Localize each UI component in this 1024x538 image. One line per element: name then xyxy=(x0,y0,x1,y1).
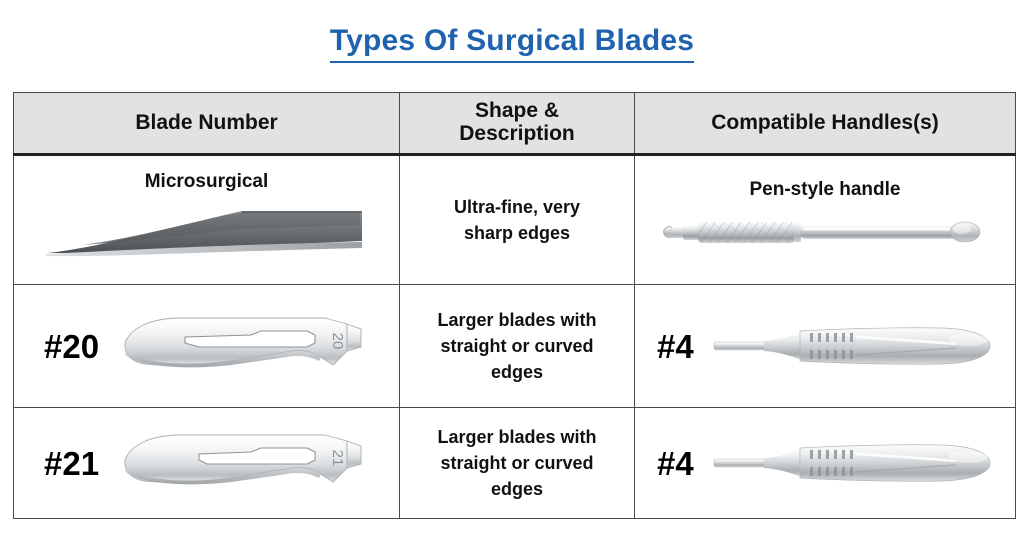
description-line: Larger blades with xyxy=(400,307,634,333)
blade-label-microsurgical: Microsurgical xyxy=(145,171,269,193)
description-line: edges xyxy=(400,476,634,502)
table-row: #20 xyxy=(14,285,1016,408)
column-header-compatible-handles-label: Compatible Handles(s) xyxy=(711,111,939,134)
table-header: Blade Number Shape & Description Compati… xyxy=(14,93,1016,155)
cell-description-microsurgical: Ultra-fine, very sharp edges xyxy=(400,155,635,285)
blade-engraving-20: 20 xyxy=(329,333,346,350)
cell-handle-21: #4 xyxy=(635,408,1016,519)
description-line: Ultra-fine, very xyxy=(400,194,634,220)
cell-blade-microsurgical: Microsurgical xyxy=(14,155,400,285)
page-title-text: Types Of Surgical Blades xyxy=(330,24,694,63)
scalpel-blade-21-icon: 21 xyxy=(99,424,399,502)
column-header-shape-description: Shape & Description xyxy=(400,93,635,155)
handle-label-4: #4 xyxy=(635,330,694,363)
surgical-blades-table: Blade Number Shape & Description Compati… xyxy=(13,92,1016,519)
table-row: Microsurgical xyxy=(14,155,1016,285)
description-line: sharp edges xyxy=(400,220,634,246)
description-line: straight or curved xyxy=(400,333,634,359)
cell-description-20: Larger blades with straight or curved ed… xyxy=(400,285,635,408)
description-line: edges xyxy=(400,359,634,385)
column-header-shape-line2: Description xyxy=(400,123,634,146)
table-header-row: Blade Number Shape & Description Compati… xyxy=(14,93,1016,155)
description-line: straight or curved xyxy=(400,450,634,476)
table-row: #21 xyxy=(14,408,1016,519)
column-header-blade-number-label: Blade Number xyxy=(135,111,277,134)
description-line: Larger blades with xyxy=(400,424,634,450)
handle-label-4: #4 xyxy=(635,447,694,480)
cell-handle-20: #4 xyxy=(635,285,1016,408)
cell-blade-20: #20 xyxy=(14,285,400,408)
handle-label-pen-style: Pen-style handle xyxy=(750,179,901,201)
scalpel-handle-4-icon xyxy=(694,316,1015,376)
table-body: Microsurgical xyxy=(14,155,1016,519)
blade-label-21: #21 xyxy=(14,447,99,480)
cell-blade-21: #21 xyxy=(14,408,400,519)
microsurgical-blade-icon xyxy=(42,195,372,269)
column-header-compatible-handles: Compatible Handles(s) xyxy=(635,93,1016,155)
blade-engraving-21: 21 xyxy=(329,450,346,467)
page-title: Types Of Surgical Blades xyxy=(0,24,1024,63)
scalpel-handle-4-icon xyxy=(694,433,1015,493)
cell-handle-microsurgical: Pen-style handle xyxy=(635,155,1016,285)
cell-description-21: Larger blades with straight or curved ed… xyxy=(400,408,635,519)
scalpel-blade-20-icon: 20 xyxy=(99,307,399,385)
column-header-shape-line1: Shape & xyxy=(400,100,634,123)
blade-label-20: #20 xyxy=(14,330,99,363)
pen-style-handle-icon xyxy=(660,203,990,261)
column-header-blade-number: Blade Number xyxy=(14,93,400,155)
